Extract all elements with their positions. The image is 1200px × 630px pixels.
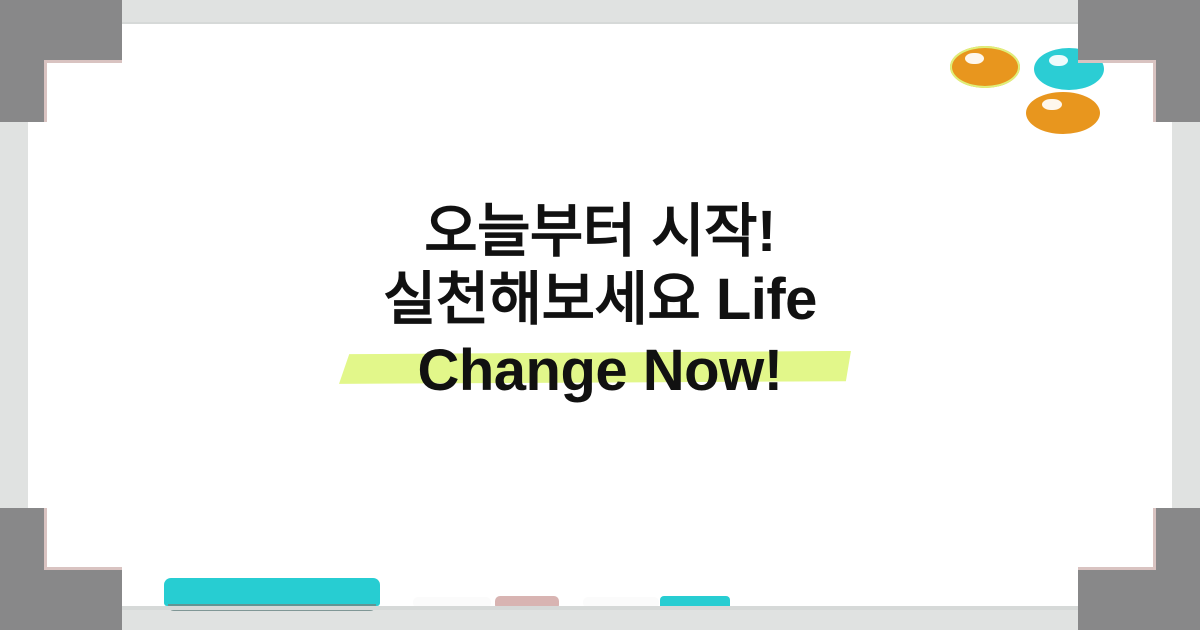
bracket-edge-vertical: [1153, 60, 1156, 122]
corner-bracket-top-left: [0, 0, 122, 122]
bracket-edge-horizontal: [1078, 567, 1156, 570]
magnet-gloss-icon: [1042, 99, 1061, 111]
headline-line-1: 오늘부터 시작!: [0, 198, 1200, 266]
headline-line-2: 실천해보세요 Life: [0, 266, 1200, 334]
bracket-arm-vertical: [0, 508, 44, 630]
bracket-edge-vertical: [44, 60, 47, 122]
headline-line-3-text: Change Now!: [417, 338, 782, 403]
corner-bracket-top-right: [1078, 0, 1200, 122]
bracket-arm-vertical: [1156, 0, 1200, 122]
whiteboard-graphic: 오늘부터 시작! 실천해보세요 Life Change Now!: [0, 0, 1200, 630]
bracket-arm-vertical: [1156, 508, 1200, 630]
magnet-gloss-icon: [965, 53, 983, 65]
bracket-arm-vertical: [0, 0, 44, 122]
bracket-edge-horizontal: [44, 60, 122, 63]
teal-marker-large: [164, 578, 380, 606]
bracket-edge-horizontal: [1078, 60, 1156, 63]
bracket-edge-vertical: [44, 508, 47, 570]
headline-line-2-text: 실천해보세요 Life: [383, 267, 817, 332]
corner-bracket-bottom-right: [1078, 508, 1200, 630]
magnet-gloss-icon: [1049, 55, 1067, 67]
headline-line-1-text: 오늘부터 시작!: [424, 199, 776, 264]
headline-line-3: Change Now!: [0, 337, 1200, 405]
bracket-edge-horizontal: [44, 567, 122, 570]
tray-ledge: [28, 606, 1172, 610]
orange-magnet-left: [950, 46, 1020, 88]
corner-bracket-bottom-left: [0, 508, 122, 630]
bracket-edge-vertical: [1153, 508, 1156, 570]
headline-block: 오늘부터 시작! 실천해보세요 Life Change Now!: [0, 198, 1200, 405]
